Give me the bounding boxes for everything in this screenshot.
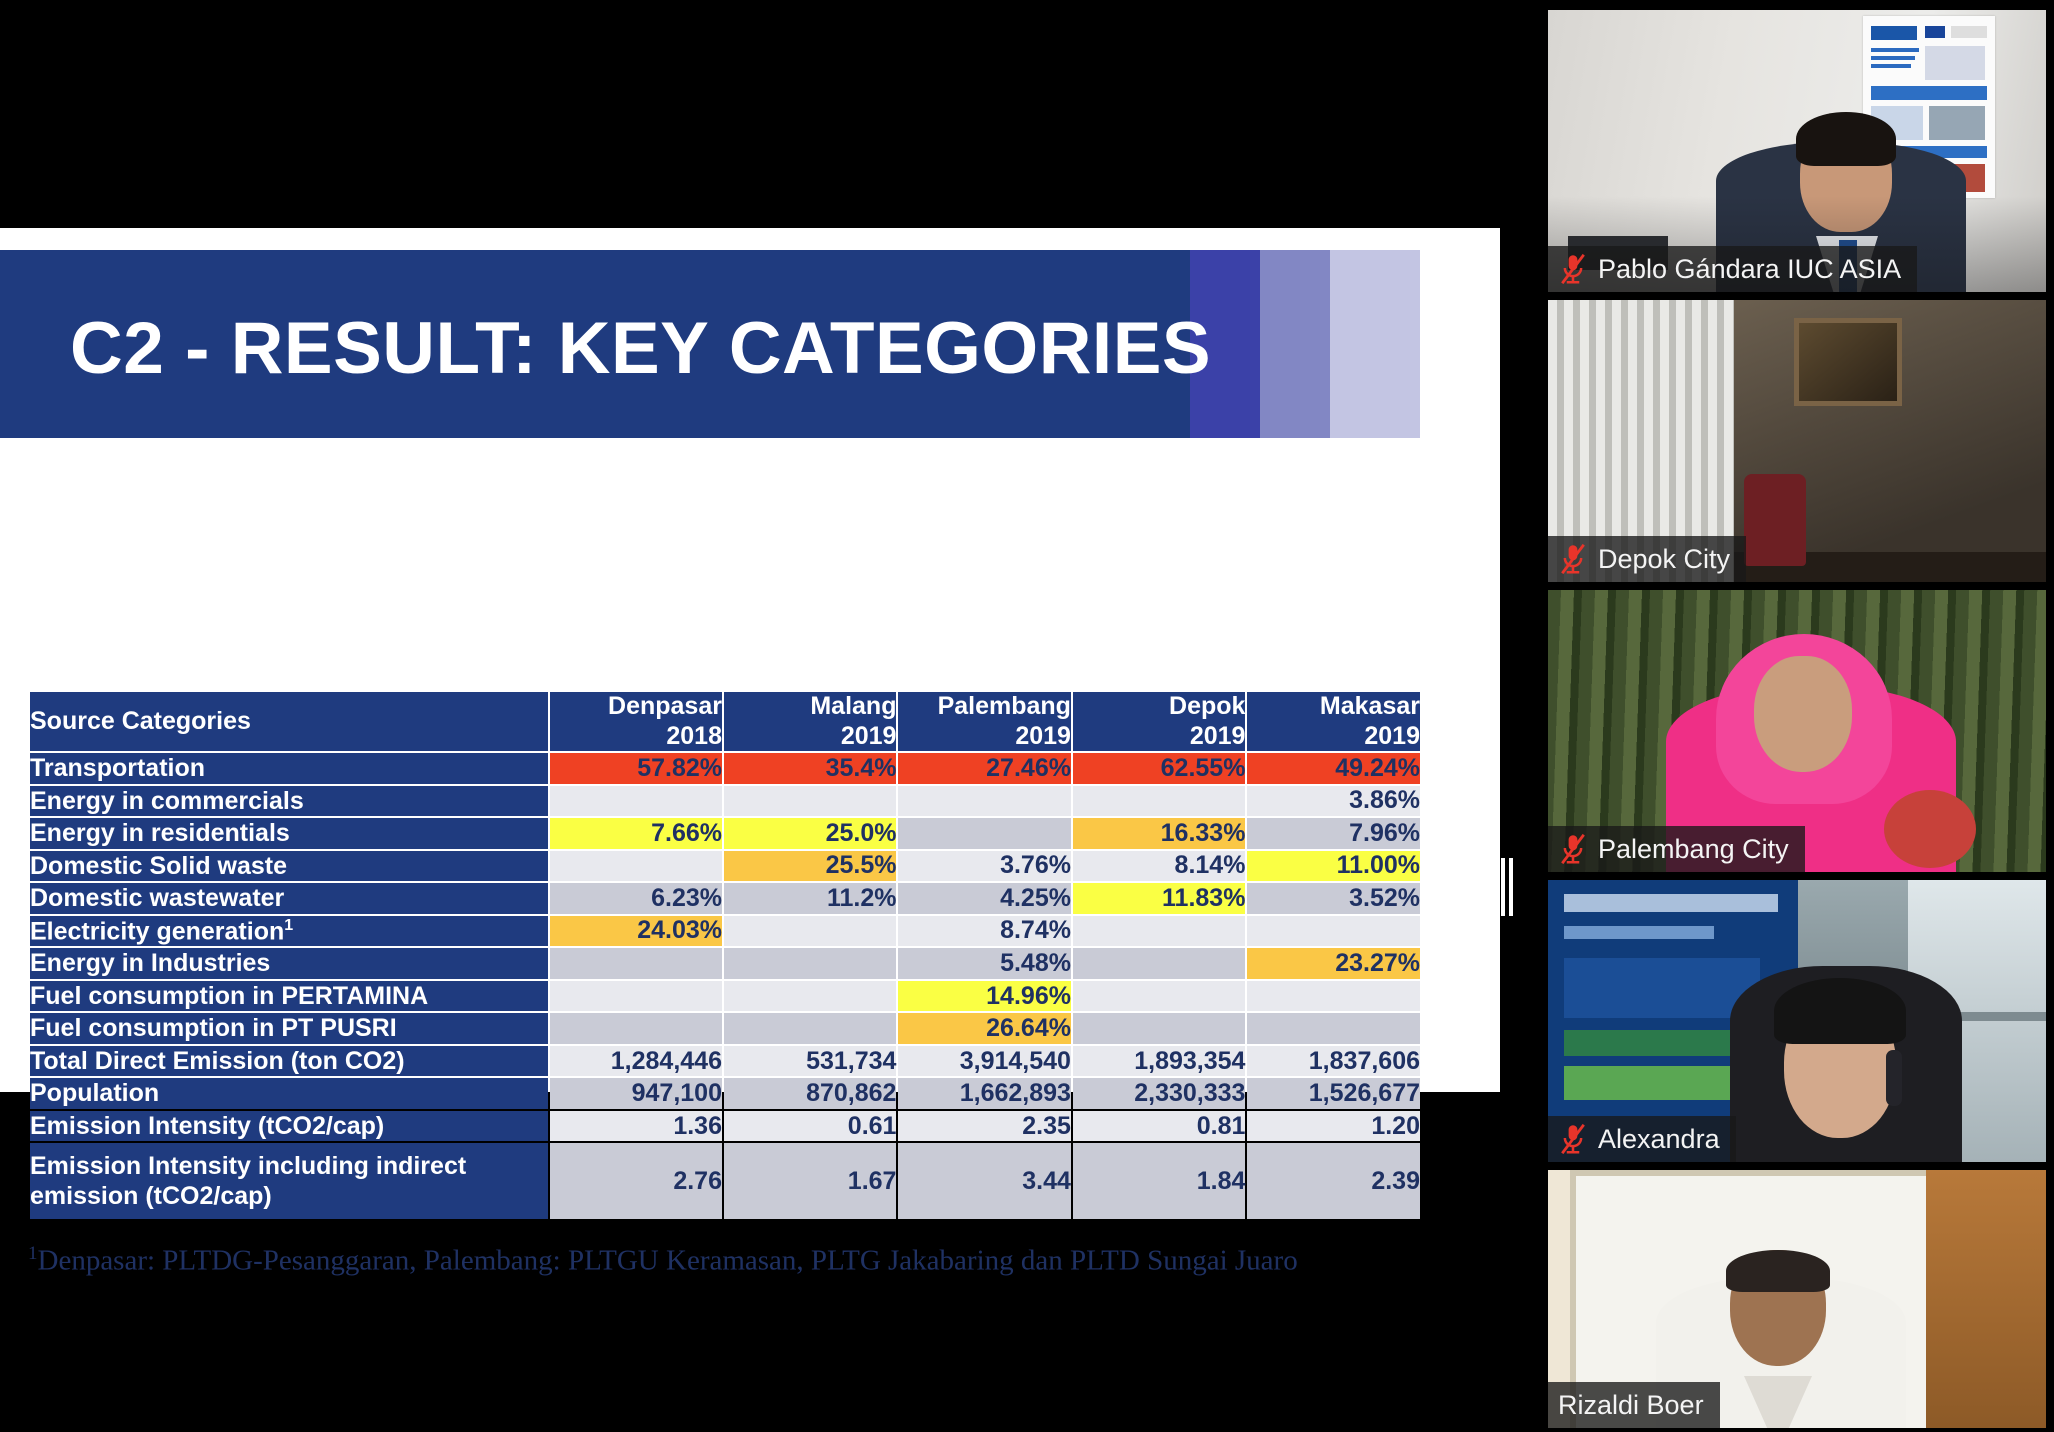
table-cell: 11.2% [724,883,896,914]
microphone-muted-icon[interactable] [1558,1122,1588,1156]
table-cell: 1.84 [1073,1143,1245,1219]
table-cell [550,786,722,817]
row-label: Emission Intensity including indirect em… [30,1143,548,1219]
table-cell: 870,862 [724,1078,896,1109]
table-cell: 1.67 [724,1143,896,1219]
table-cell: 25.5% [724,851,896,882]
video-tile-rizaldi-boer[interactable]: Rizaldi Boer [1548,1170,2046,1428]
table-cell [1073,981,1245,1012]
banner-line-4 [1564,1066,1740,1100]
row-label: Fuel consumption in PT PUSRI [30,1013,548,1044]
wall-picture-frame [1794,318,1902,406]
column-header-year: 2019 [1073,722,1245,752]
column-header-year: 2019 [724,722,896,752]
row-label: Energy in residentials [30,818,548,849]
column-header-city: Denpasar [550,692,722,722]
table-cell: 26.64% [898,1013,1070,1044]
participant-name-bar: Pablo Gándara IUC ASIA [1548,246,1917,292]
table-row: Fuel consumption in PERTAMINA14.96% [30,981,1420,1012]
table-cell [1073,948,1245,979]
table-header: Source Categories Denpasar2018 Malang201… [30,692,1420,751]
table-cell: 14.96% [898,981,1070,1012]
table-cell: 947,100 [550,1078,722,1109]
participant-hair [1726,1250,1830,1292]
participant-face [1754,656,1852,772]
row-label: Domestic wastewater [30,883,548,914]
table-cell [550,948,722,979]
table-cell: 4.25% [898,883,1070,914]
video-tile-pablo-gandara[interactable]: Pablo Gándara IUC ASIA [1548,10,2046,292]
table-cell: 3.76% [898,851,1070,882]
table-cell: 11.83% [1073,883,1245,914]
title-banner-stripe-3 [1260,250,1330,438]
red-object [1744,474,1806,566]
table-row: Total Direct Emission (ton CO2)1,284,446… [30,1046,1420,1077]
participant-hair [1796,112,1896,166]
participant-name: Rizaldi Boer [1558,1390,1704,1421]
video-tile-alexandra[interactable]: Alexandra [1548,880,2046,1162]
table-cell [1247,916,1420,947]
key-categories-table: Source Categories Denpasar2018 Malang201… [28,690,1422,1221]
table-header-row: Source Categories Denpasar2018 Malang201… [30,692,1420,751]
picture-frame-art [1799,323,1897,401]
table-cell [724,981,896,1012]
table-cell [724,786,896,817]
column-header-makasar: Makasar2019 [1247,692,1420,751]
row-label: Fuel consumption in PERTAMINA [30,981,548,1012]
table-cell: 1,662,893 [898,1078,1070,1109]
footnote-text: Denpasar: PLTDG-Pesanggaran, Palembang: … [38,1245,1298,1277]
table-cell [724,916,896,947]
table-cell: 35.4% [724,753,896,784]
table-cell: 57.82% [550,753,722,784]
participant-hair [1774,978,1906,1044]
column-header-year: 2019 [1247,722,1420,752]
table-cell [1073,1013,1245,1044]
title-banner-stripe-4 [1330,250,1420,438]
column-header-malang: Malang2019 [724,692,896,751]
drag-handle-bar-right [1509,858,1513,916]
column-header-city: Depok [1073,692,1245,722]
table-cell: 1.20 [1247,1111,1420,1142]
column-header-denpasar: Denpasar2018 [550,692,722,751]
table-row: Energy in commercials3.86% [30,786,1420,817]
table-cell: 0.81 [1073,1111,1245,1142]
banner-line-1 [1564,894,1778,912]
participant-name: Pablo Gándara IUC ASIA [1598,254,1901,285]
table-cell [550,981,722,1012]
table-cell [898,818,1070,849]
participant-name-bar: Alexandra [1548,1116,1736,1162]
table-row: Transportation57.82%35.4%27.46%62.55%49.… [30,753,1420,784]
table-cell: 25.0% [724,818,896,849]
table-row: Domestic wastewater6.23%11.2%4.25%11.83%… [30,883,1420,914]
table-row: Domestic Solid waste25.5%3.76%8.14%11.00… [30,851,1420,882]
participant-name: Alexandra [1598,1124,1720,1155]
table-cell: 2.35 [898,1111,1070,1142]
row-label: Domestic Solid waste [30,851,548,882]
footnote-marker: 1 [28,1243,38,1264]
microphone-muted-icon[interactable] [1558,542,1588,576]
slide-title: C2 - RESULT: KEY CATEGORIES [70,294,1170,404]
table-cell: 8.74% [898,916,1070,947]
banner-line-2 [1564,926,1714,939]
drag-handle-bar-left [1501,858,1505,916]
table-cell: 1,284,446 [550,1046,722,1077]
table-cell: 27.46% [898,753,1070,784]
table-cell [550,1013,722,1044]
table-cell: 24.03% [550,916,722,947]
row-label: Energy in Industries [30,948,548,979]
table-cell: 0.61 [724,1111,896,1142]
table-cell: 5.48% [898,948,1070,979]
slide-title-banner: C2 - RESULT: KEY CATEGORIES [0,250,1420,438]
column-header-city: Palembang [898,692,1070,722]
column-header-city: Makasar [1247,692,1420,722]
row-label: Electricity generation1 [30,916,548,947]
table-cell: 3.52% [1247,883,1420,914]
table-cell [1073,786,1245,817]
participant-video-strip[interactable]: Pablo Gándara IUC ASIA Depok City [1540,0,2054,1432]
table-cell: 62.55% [1073,753,1245,784]
table-cell: 16.33% [1073,818,1245,849]
table-cell: 6.23% [550,883,722,914]
slide-footnote: 1Denpasar: PLTDG-Pesanggaran, Palembang:… [28,1243,1408,1278]
table-cell: 7.66% [550,818,722,849]
table-cell [550,851,722,882]
table-row: Energy in residentials7.66%25.0%16.33%7.… [30,818,1420,849]
wooden-wall [1926,1170,2046,1428]
table-body: Transportation57.82%35.4%27.46%62.55%49.… [30,753,1420,1219]
table-cell: 11.00% [1247,851,1420,882]
video-tile-palembang-city[interactable]: Palembang City [1548,590,2046,872]
table-cell: 1.36 [550,1111,722,1142]
table-cell: 2,330,333 [1073,1078,1245,1109]
table-cell [1247,981,1420,1012]
table-cell [724,948,896,979]
table-cell: 531,734 [724,1046,896,1077]
column-header-palembang: Palembang2019 [898,692,1070,751]
table-cell: 23.27% [1247,948,1420,979]
table-cell: 1,837,606 [1247,1046,1420,1077]
table-cell: 1,526,677 [1247,1078,1420,1109]
table-row: Electricity generation124.03%8.74% [30,916,1420,947]
row-label: Transportation [30,753,548,784]
participant-name: Depok City [1598,544,1730,575]
table-row: Emission Intensity including indirect em… [30,1143,1420,1219]
meeting-screen: C2 - RESULT: KEY CATEGORIES Source Categ… [0,0,2054,1432]
table-cell [724,1013,896,1044]
participant-name: Palembang City [1598,834,1789,865]
row-label: Energy in commercials [30,786,548,817]
column-header-city: Malang [724,692,896,722]
table-cell: 2.39 [1247,1143,1420,1219]
table-cell [1247,1013,1420,1044]
column-header-year: 2019 [898,722,1070,752]
row-label: Population [30,1078,548,1109]
column-header-depok: Depok2019 [1073,692,1245,751]
table-row: Fuel consumption in PT PUSRI26.64% [30,1013,1420,1044]
video-tile-depok-city[interactable]: Depok City [1548,300,2046,582]
participant-name-bar: Palembang City [1548,826,1805,872]
row-label: Emission Intensity (tCO2/cap) [30,1111,548,1142]
table-cell: 3.86% [1247,786,1420,817]
row-label: Total Direct Emission (ton CO2) [30,1046,548,1077]
screen-share-drag-handle[interactable] [1498,858,1516,916]
table-cell: 1,893,354 [1073,1046,1245,1077]
table-cell: 49.24% [1247,753,1420,784]
headset-microphone [1886,1050,1902,1106]
table-corner-header: Source Categories [30,692,548,751]
table-row: Energy in Industries5.48%23.27% [30,948,1420,979]
table-cell [898,786,1070,817]
table-cell: 8.14% [1073,851,1245,882]
flower-decoration [1884,790,1976,868]
presentation-slide: C2 - RESULT: KEY CATEGORIES Source Categ… [0,228,1420,1092]
table-cell: 3,914,540 [898,1046,1070,1077]
table-cell [1073,916,1245,947]
table-cell: 2.76 [550,1143,722,1219]
banner-block [1564,958,1760,1018]
participant-name-bar: Rizaldi Boer [1548,1382,1720,1428]
row-label-footnote-marker: 1 [284,917,293,934]
table-cell: 7.96% [1247,818,1420,849]
table-row: Population947,100870,8621,662,8932,330,3… [30,1078,1420,1109]
column-header-year: 2018 [550,722,722,752]
table-row: Emission Intensity (tCO2/cap)1.360.612.3… [30,1111,1420,1142]
microphone-muted-icon[interactable] [1558,252,1588,286]
table-cell: 3.44 [898,1143,1070,1219]
shared-screen-region[interactable]: C2 - RESULT: KEY CATEGORIES Source Categ… [0,228,1500,1092]
microphone-muted-icon[interactable] [1558,832,1588,866]
participant-name-bar: Depok City [1548,536,1746,582]
